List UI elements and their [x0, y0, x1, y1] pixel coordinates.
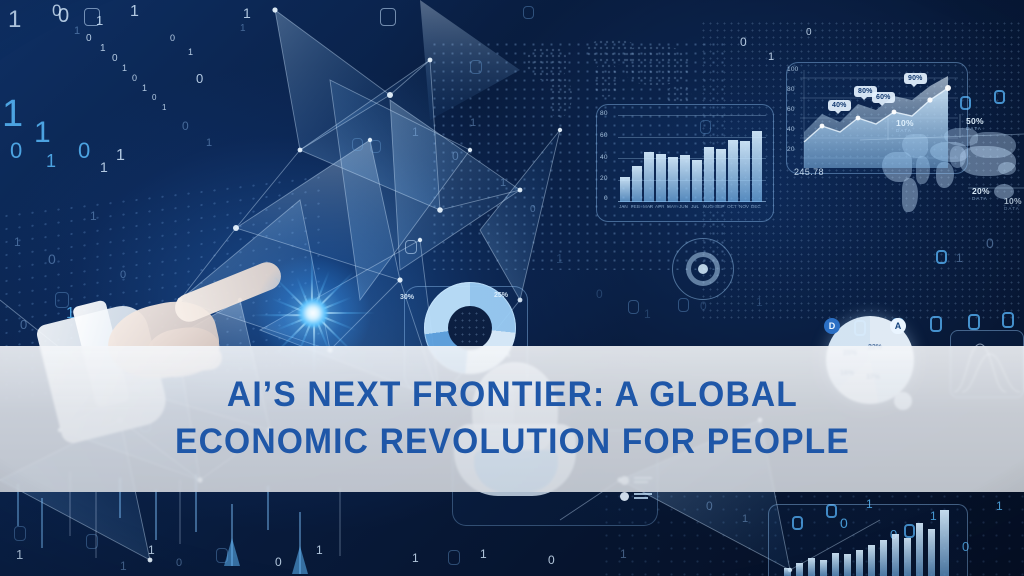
- bar-x-tick: DEC: [751, 204, 761, 209]
- area-y-tick: 80: [787, 86, 795, 93]
- bar-x-tick: MAR: [643, 204, 653, 209]
- node-badge-a: A: [890, 318, 906, 334]
- bar-x-tick: OCT: [727, 204, 737, 209]
- bar-x-tick: JAN: [619, 204, 628, 209]
- node-badge-d: D: [824, 318, 840, 334]
- page-title-line-2: ECONOMIC REVOLUTION FOR PEOPLE: [175, 421, 850, 464]
- bar-chart: 80 60 40 20 0 JAN FEB MAR APR MAY JUN JU…: [618, 116, 766, 202]
- bar-y-tick: 20: [600, 175, 608, 182]
- area-y-tick: 60: [787, 106, 795, 113]
- bar-y-tick: 40: [600, 154, 608, 161]
- hero-image-canvas: 1 0 1 0 1 0 1 0 1 0 1 0 1 1 1 0 1 1 1 0 …: [0, 0, 1024, 576]
- bar-x-tick: SEP: [715, 204, 724, 209]
- bar-x-tick: JUL: [691, 204, 699, 209]
- bar-y-tick: 60: [600, 132, 608, 139]
- area-tooltip: 40%: [828, 100, 851, 111]
- area-corner-value: 245.78: [794, 167, 824, 177]
- area-y-tick: 40: [787, 126, 795, 133]
- area-tooltip: 80%: [854, 86, 877, 97]
- bar-x-tick: JUN: [679, 204, 688, 209]
- bar-y-tick: 0: [604, 195, 608, 202]
- bar-y-tick: 80: [600, 110, 608, 117]
- donut-label: 30%: [400, 294, 414, 301]
- bar-x-tick: AUG: [703, 204, 713, 209]
- area-y-tick: 100: [787, 66, 798, 73]
- stat-connector-lines: [860, 100, 1024, 220]
- area-y-tick: 20: [787, 146, 795, 153]
- page-title-line-1: AI’S NEXT FRONTIER: A GLOBAL: [226, 374, 797, 417]
- bar-x-tick: FEB: [631, 204, 640, 209]
- radar-donut-upper-core: [698, 264, 708, 274]
- bar-x-tick: NOV: [739, 204, 749, 209]
- bar-x-tick: APR: [655, 204, 664, 209]
- bottom-bar-chart: [782, 516, 960, 576]
- bar-x-tick: MAY: [667, 204, 677, 209]
- title-banner: AI’S NEXT FRONTIER: A GLOBAL ECONOMIC RE…: [0, 346, 1024, 492]
- area-tooltip: 90%: [904, 73, 927, 84]
